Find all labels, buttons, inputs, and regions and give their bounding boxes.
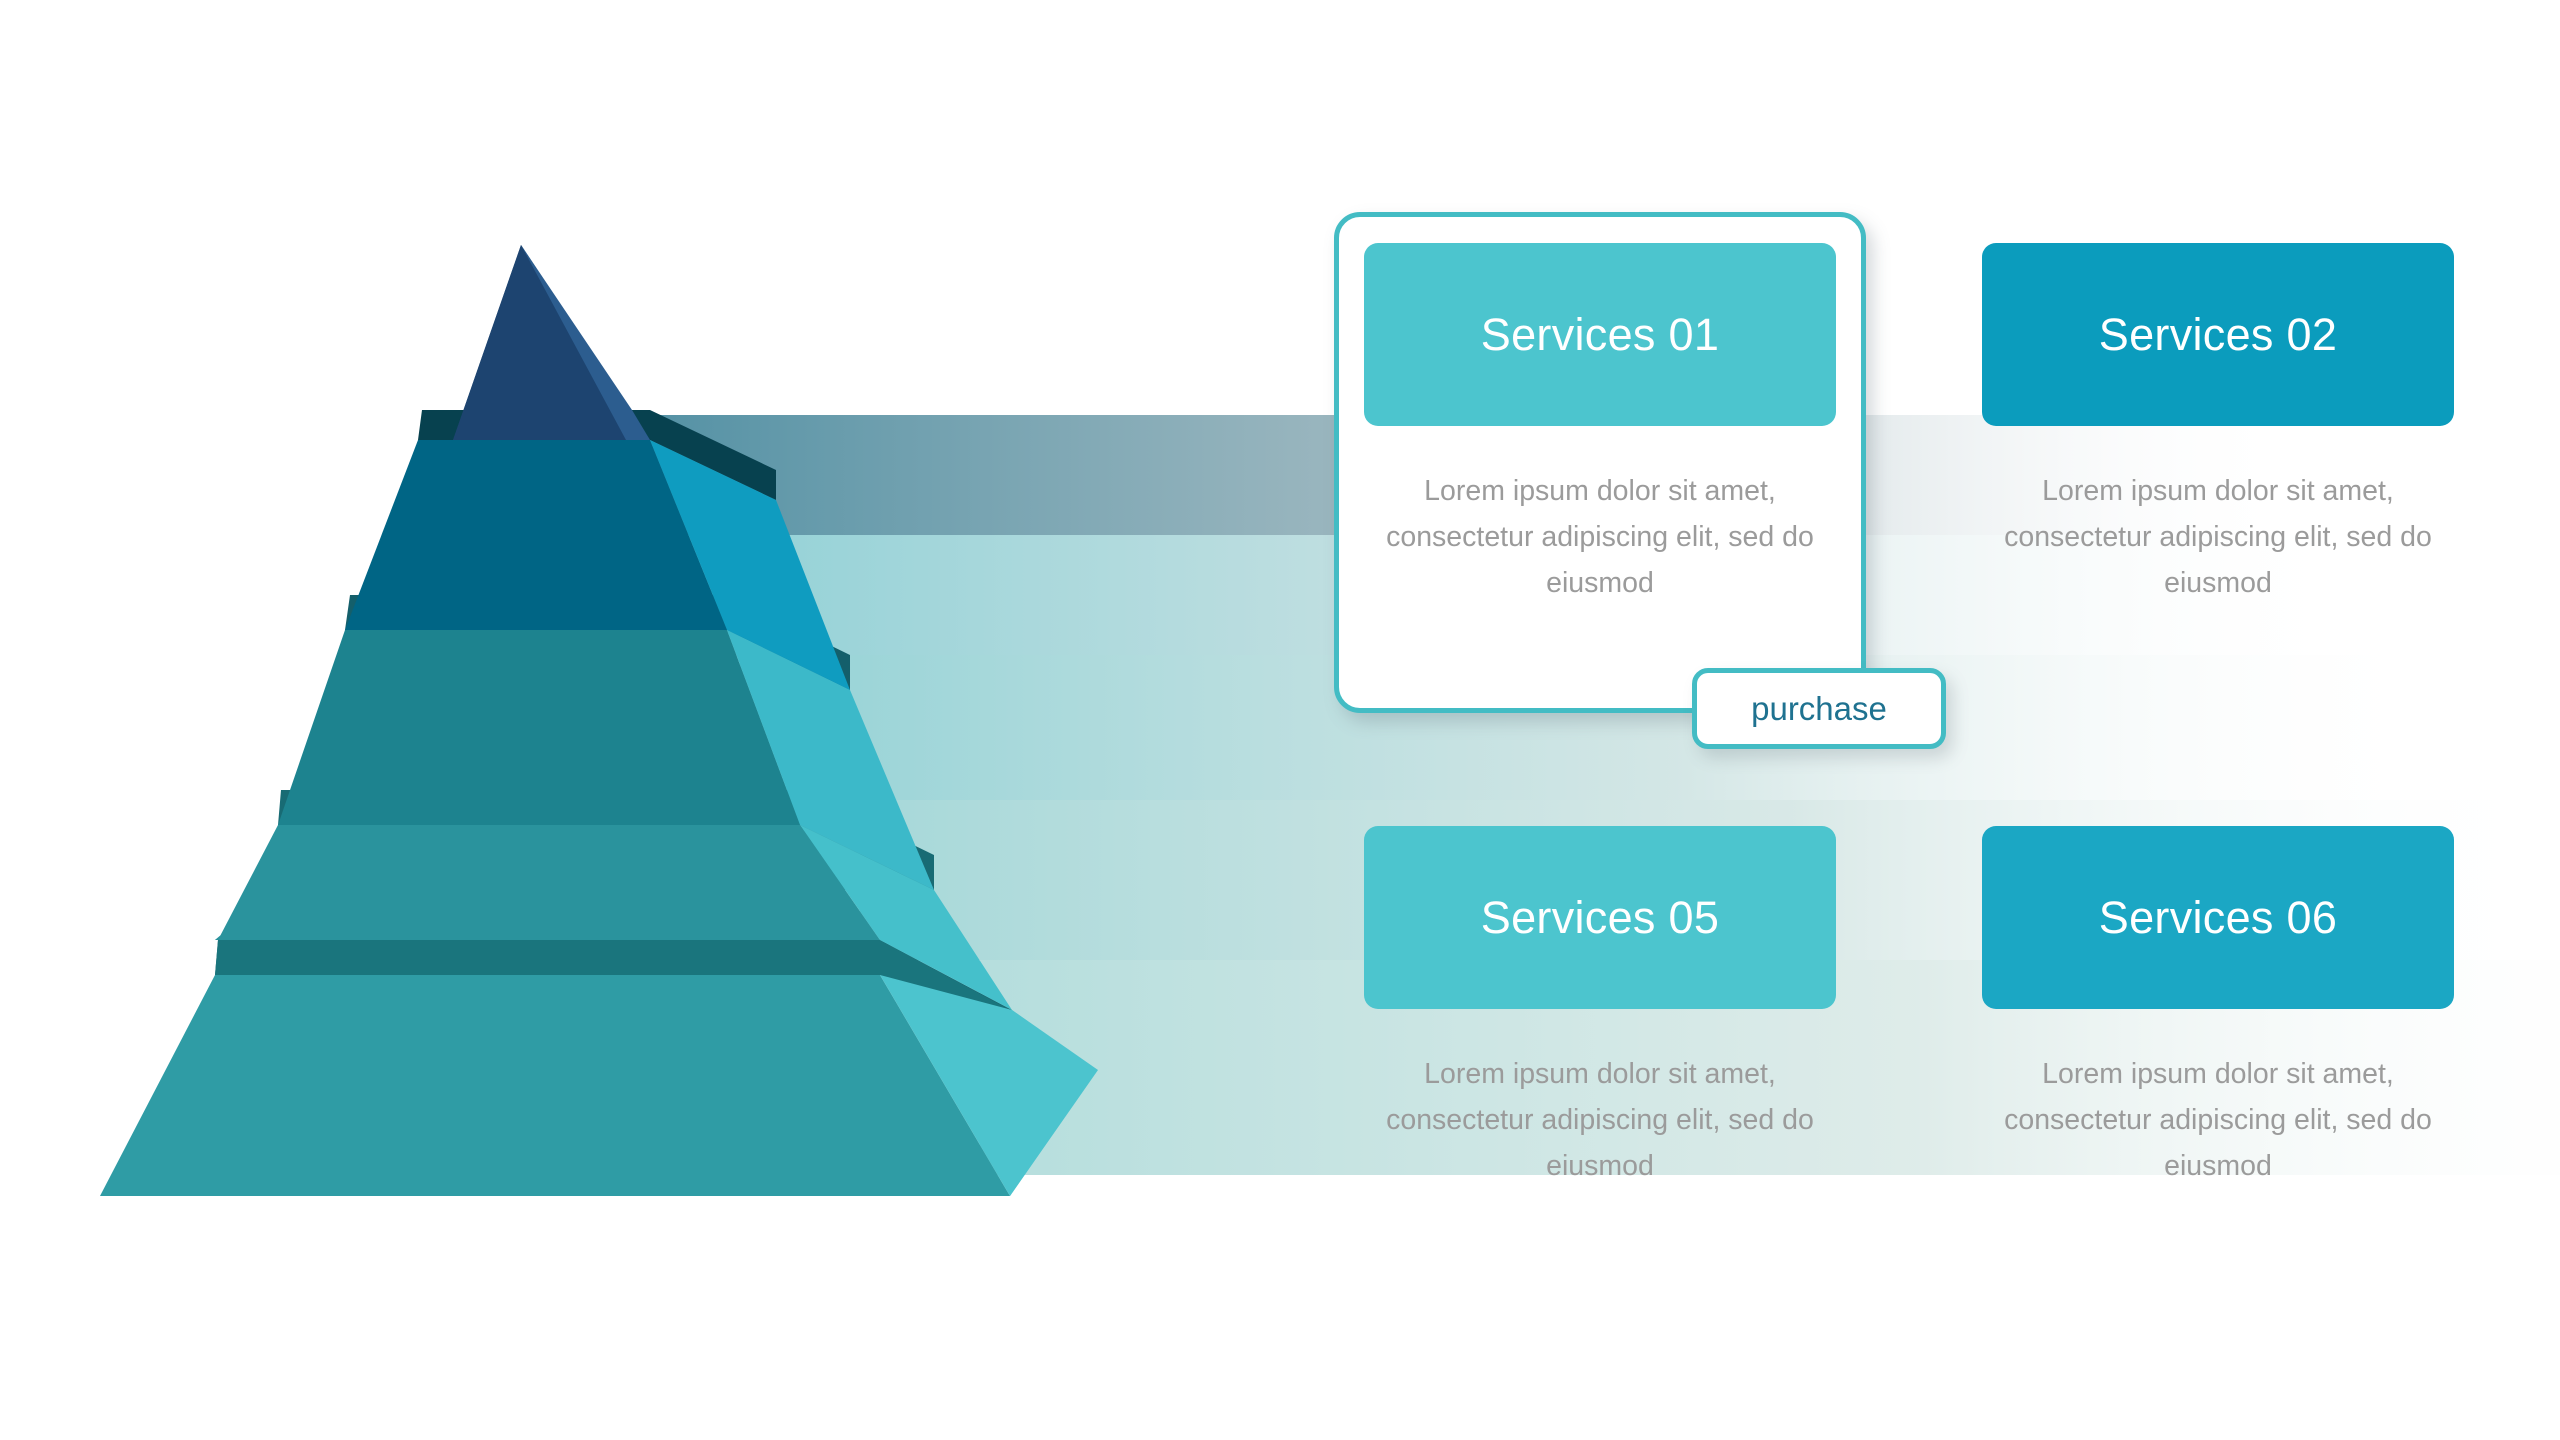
service-card-01-description: Lorem ipsum dolor sit amet, consectetur … <box>1364 468 1836 606</box>
service-card-06-header[interactable]: Services 06 <box>1982 826 2454 1009</box>
service-card-05-description: Lorem ipsum dolor sit amet, consectetur … <box>1364 1051 1836 1189</box>
service-card-05-header[interactable]: Services 05 <box>1364 826 1836 1009</box>
service-card-01[interactable]: Services 01 Lorem ipsum dolor sit amet, … <box>1364 243 1836 606</box>
purchase-button[interactable]: purchase <box>1692 668 1946 749</box>
service-card-02-header[interactable]: Services 02 <box>1982 243 2454 426</box>
service-card-06[interactable]: Services 06 Lorem ipsum dolor sit amet, … <box>1982 826 2454 1189</box>
service-card-05[interactable]: Services 05 Lorem ipsum dolor sit amet, … <box>1364 826 1836 1189</box>
service-card-01-header[interactable]: Services 01 <box>1364 243 1836 426</box>
service-card-02[interactable]: Services 02 Lorem ipsum dolor sit amet, … <box>1982 243 2454 606</box>
service-cards-container: Services 01 Lorem ipsum dolor sit amet, … <box>0 0 2560 1440</box>
purchase-button-label: purchase <box>1751 692 1887 725</box>
service-card-02-description: Lorem ipsum dolor sit amet, consectetur … <box>1982 468 2454 606</box>
infographic-canvas: Services 01 Lorem ipsum dolor sit amet, … <box>0 0 2560 1440</box>
service-card-06-description: Lorem ipsum dolor sit amet, consectetur … <box>1982 1051 2454 1189</box>
